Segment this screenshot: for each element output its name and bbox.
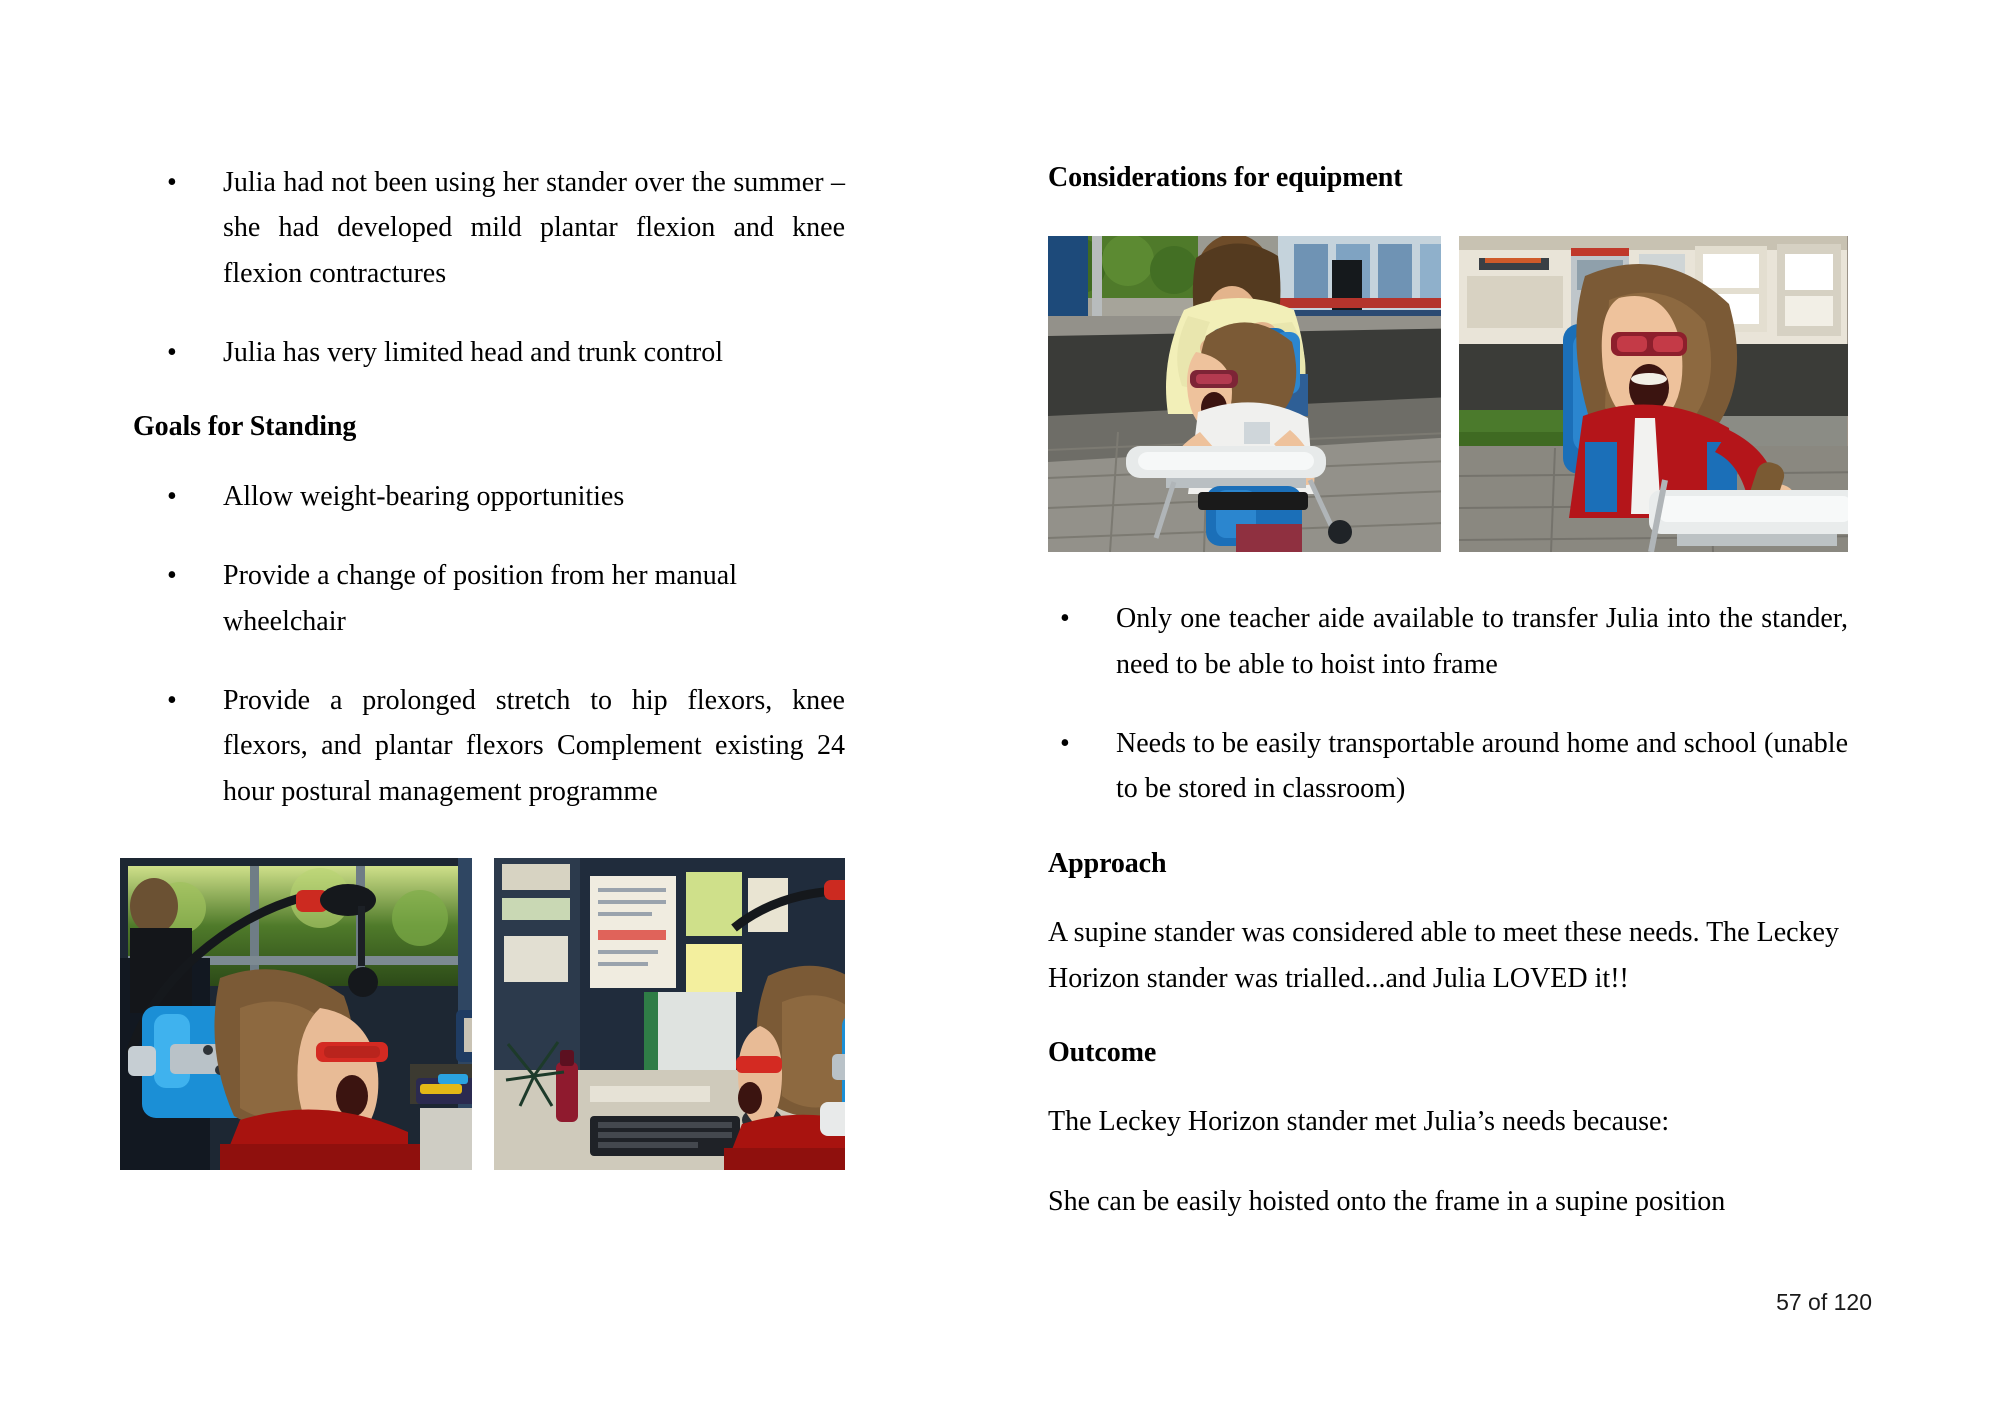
goals-for-standing-heading: Goals for Standing: [133, 409, 845, 445]
right-photo-row: [1048, 236, 1848, 552]
photo-aide-assisting-julia-outdoors: [1048, 236, 1441, 552]
spacer: [1048, 202, 1848, 236]
considerations-for-equipment-heading: Considerations for equipment: [1048, 160, 1848, 196]
spacer: [1048, 1145, 1848, 1179]
photo-julia-headrest-classroom: [120, 858, 472, 1170]
left-column: • Julia had not been using her stander o…: [155, 160, 845, 1170]
bullet-icon: •: [167, 330, 177, 375]
spacer: [155, 814, 845, 858]
list-item: • Only one teacher aide available to tra…: [1048, 596, 1848, 687]
bullet-icon: •: [167, 160, 177, 205]
spacer: [1048, 552, 1848, 596]
outcome-heading: Outcome: [1048, 1035, 1848, 1071]
spacer: [155, 296, 845, 330]
spacer: [1048, 812, 1848, 846]
bullet-icon: •: [167, 553, 177, 598]
bullet-icon: •: [1060, 596, 1070, 641]
list-item: • Julia had not been using her stander o…: [155, 160, 845, 296]
list-item-label: Only one teacher aide available to trans…: [1116, 603, 1848, 679]
list-item: • Allow weight-bearing opportunities: [155, 474, 845, 519]
list-item: • Needs to be easily transportable aroun…: [1048, 721, 1848, 812]
spacer: [1048, 888, 1848, 910]
bullet-icon: •: [1060, 721, 1070, 766]
left-photo-row: [120, 858, 845, 1170]
goals-bullet-list: • Allow weight-bearing opportunities • P…: [155, 474, 845, 814]
document-page: • Julia had not been using her stander o…: [0, 0, 2000, 1414]
bullet-icon: •: [167, 678, 177, 723]
spacer: [1048, 1001, 1848, 1035]
list-item-label: Julia has very limited head and trunk co…: [223, 337, 723, 368]
spacer: [155, 519, 845, 553]
page-number: 57 of 120: [1776, 1289, 1872, 1316]
spacer: [155, 452, 845, 474]
condition-bullet-list: • Julia had not been using her stander o…: [155, 160, 845, 375]
spacer: [155, 375, 845, 409]
outcome-intro-paragraph: The Leckey Horizon stander met Julia’s n…: [1048, 1099, 1848, 1144]
list-item: • Provide a change of position from her …: [155, 553, 845, 644]
outcome-point-paragraph: She can be easily hoisted onto the frame…: [1048, 1179, 1848, 1224]
right-column: Considerations for equipment: [1048, 160, 1848, 1224]
list-item: • Provide a prolonged stretch to hip fle…: [155, 678, 845, 814]
spacer: [155, 644, 845, 678]
spacer: [1048, 1077, 1848, 1099]
spacer: [1048, 687, 1848, 721]
bullet-icon: •: [167, 474, 177, 519]
list-item-label: Allow weight-bearing opportunities: [223, 481, 624, 512]
list-item-label: Provide a change of position from her ma…: [223, 560, 737, 636]
approach-heading: Approach: [1048, 846, 1848, 882]
photo-julia-at-computer: [494, 858, 846, 1170]
list-item-label: Provide a prolonged stretch to hip flexo…: [223, 685, 845, 807]
photo-julia-smiling-in-stander: [1459, 236, 1848, 552]
approach-paragraph: A supine stander was considered able to …: [1048, 910, 1848, 1001]
considerations-bullet-list: • Only one teacher aide available to tra…: [1048, 596, 1848, 811]
list-item: • Julia has very limited head and trunk …: [155, 330, 845, 375]
list-item-label: Julia had not been using her stander ove…: [223, 167, 845, 289]
list-item-label: Needs to be easily transportable around …: [1116, 728, 1848, 804]
